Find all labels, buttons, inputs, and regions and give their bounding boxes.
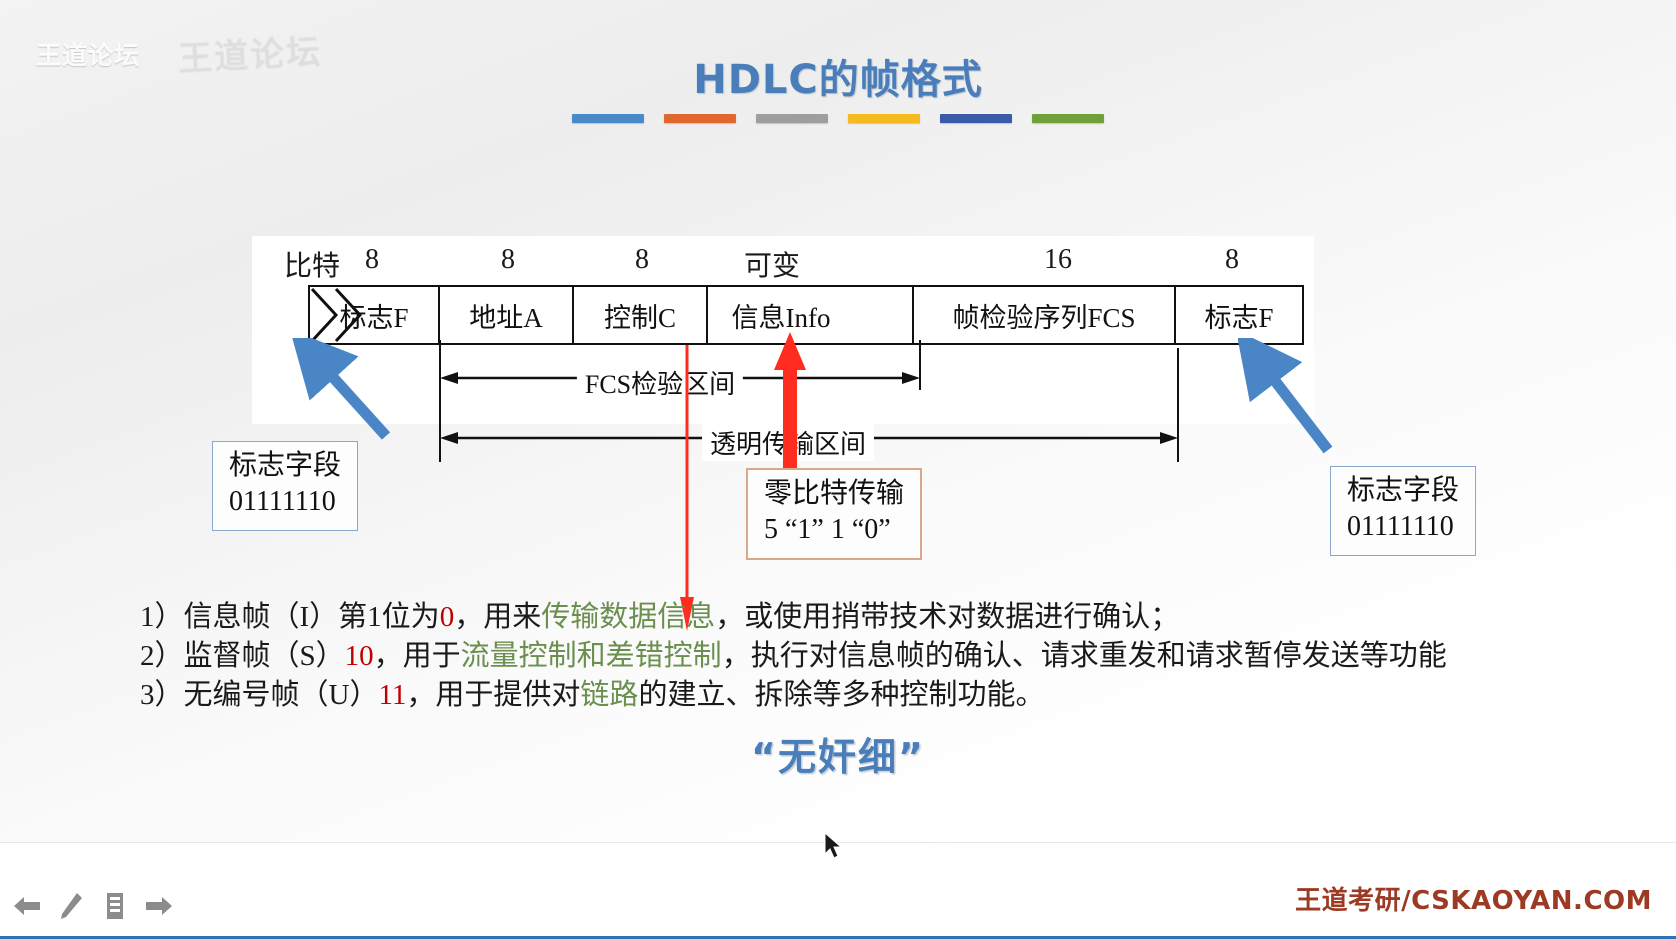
slideshow-nav-controls[interactable] bbox=[10, 889, 176, 923]
list-item-2-green: 流量控制和差错控制 bbox=[461, 640, 722, 672]
list-item: 1）信息帧（I）第1位为0，用来传输数据信息，或使用捎带技术对数据进行确认； bbox=[140, 600, 1560, 636]
bar-yellow bbox=[848, 114, 920, 123]
bar-blue bbox=[572, 114, 644, 123]
callout-flag-left-line1: 标志字段 bbox=[229, 448, 341, 484]
bit-width-flag1: 8 bbox=[365, 244, 379, 276]
tagline: “无奸细” bbox=[0, 726, 1676, 781]
bits-caption: 比特 bbox=[284, 244, 340, 284]
list-item-3-seg1: 无编号帧（U） bbox=[184, 679, 379, 711]
presentation-slide: 王道论坛 王道论坛 HDLC的帧格式 比特 8 8 8 可变 16 8 标志F … bbox=[0, 0, 1676, 939]
notes-icon[interactable] bbox=[98, 889, 132, 923]
callout-flag-right-line1: 标志字段 bbox=[1347, 473, 1459, 509]
field-fcs: 帧检验序列FCS bbox=[914, 287, 1176, 343]
list-item: 3）无编号帧（U）11，用于提供对链路的建立、拆除等多种控制功能。 bbox=[140, 678, 1560, 714]
list-item-3-green: 链路 bbox=[580, 679, 638, 711]
list-item-3-seg2: ，用于提供对 bbox=[406, 679, 580, 711]
field-control: 控制C bbox=[574, 287, 708, 343]
bit-width-flag2: 8 bbox=[1225, 244, 1239, 276]
field-address: 地址A bbox=[440, 287, 574, 343]
bit-width-fcs: 16 bbox=[1044, 244, 1072, 276]
bit-width-info: 可变 bbox=[744, 244, 800, 284]
callout-flag-left: 标志字段 01111110 bbox=[212, 441, 358, 531]
list-item-1-number: 1） bbox=[140, 601, 184, 633]
list-item-3-code: 11 bbox=[378, 679, 406, 711]
callout-zero-bit-line1: 零比特传输 bbox=[764, 476, 904, 512]
zigzag-break-icon bbox=[310, 287, 370, 343]
pointer-arrow-right-icon bbox=[1238, 338, 1358, 458]
list-item-3-number: 3） bbox=[140, 679, 184, 711]
bar-green bbox=[1032, 114, 1104, 123]
bar-gray bbox=[756, 114, 828, 123]
list-item-2-seg3: ，执行对信息帧的确认、请求重发和请求暂停发送等功能 bbox=[722, 640, 1447, 672]
pointer-arrow-left-icon bbox=[290, 338, 400, 448]
bar-orange bbox=[664, 114, 736, 123]
brand-footer: 王道考研/CSKAOYAN.COM bbox=[1295, 880, 1652, 917]
list-item-1-code: 0 bbox=[440, 601, 455, 633]
list-item-3-seg3: 的建立、拆除等多种控制功能。 bbox=[638, 679, 1044, 711]
list-item-2-seg2: ，用于 bbox=[374, 640, 461, 672]
list-item-2-code: 10 bbox=[345, 640, 374, 672]
list-item-1-seg3: ，或使用捎带技术对数据进行确认； bbox=[715, 601, 1179, 633]
list-item-2-seg1: 监督帧（S） bbox=[184, 640, 345, 672]
callout-zero-bit-stuffing: 零比特传输 5 “1” 1 “0” bbox=[746, 468, 922, 560]
next-arrow-icon[interactable] bbox=[142, 889, 176, 923]
bar-navy bbox=[940, 114, 1012, 123]
callout-zero-bit-line2: 5 “1” 1 “0” bbox=[764, 512, 904, 548]
list-item-2-number: 2） bbox=[140, 640, 184, 672]
mouse-cursor-icon bbox=[824, 832, 844, 862]
callout-flag-right-line2: 01111110 bbox=[1347, 509, 1459, 545]
bit-width-control: 8 bbox=[635, 244, 649, 276]
callout-flag-right: 标志字段 01111110 bbox=[1330, 466, 1476, 556]
list-item-1-green: 传输数据信息 bbox=[541, 601, 715, 633]
list-item-1-seg1: 信息帧（I）第1位为 bbox=[184, 601, 440, 633]
measure-label-fcs: FCS检验区间 bbox=[577, 364, 743, 401]
break-zigzag-icon bbox=[854, 287, 914, 343]
prev-arrow-icon[interactable] bbox=[10, 889, 44, 923]
red-down-arrow-icon bbox=[680, 345, 694, 635]
title-decoration-bars bbox=[0, 114, 1676, 123]
page-title: HDLC的帧格式 bbox=[0, 47, 1676, 105]
callout-flag-left-line2: 01111110 bbox=[229, 484, 341, 520]
list-item: 2）监督帧（S）10，用于流量控制和差错控制，执行对信息帧的确认、请求重发和请求… bbox=[140, 639, 1560, 675]
bit-width-row: 比特 8 8 8 可变 16 8 bbox=[252, 244, 1314, 282]
frame-type-list: 1）信息帧（I）第1位为0，用来传输数据信息，或使用捎带技术对数据进行确认； 2… bbox=[140, 600, 1560, 717]
list-item-1-seg2: ，用来 bbox=[454, 601, 541, 633]
field-flag-end: 标志F bbox=[1176, 287, 1302, 343]
bit-width-address: 8 bbox=[501, 244, 515, 276]
pen-icon[interactable] bbox=[54, 889, 88, 923]
